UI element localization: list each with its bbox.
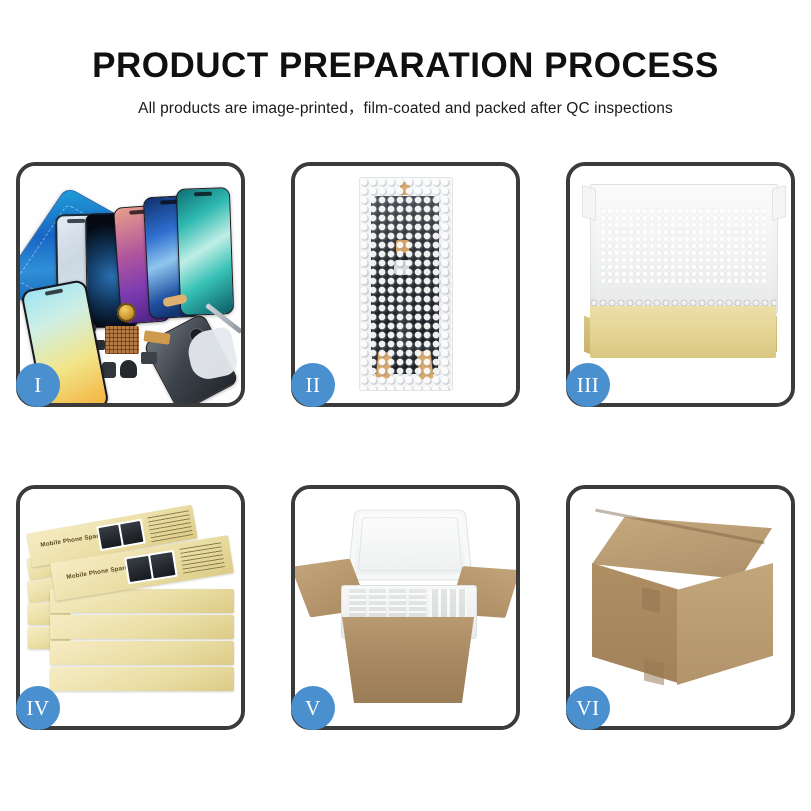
process-step-grid: I II xyxy=(16,162,795,730)
step-badge-3: III xyxy=(566,363,610,407)
tape-strip xyxy=(416,350,433,379)
page-title: PRODUCT PREPARATION PROCESS xyxy=(0,0,811,85)
bubble-wrap-package xyxy=(359,177,453,391)
gold-box-tray xyxy=(590,306,776,358)
tape-strip xyxy=(375,351,392,378)
stacked-box-slab xyxy=(50,641,234,665)
step-badge-5: V xyxy=(291,686,335,730)
step-badge-6: VI xyxy=(566,686,610,730)
step-3-image xyxy=(570,166,791,403)
step-4-image: Mobile Phone Spare Parts Mobile Phone Sp… xyxy=(20,489,241,726)
carton-left-face xyxy=(592,563,678,683)
step-5-image xyxy=(295,489,516,726)
step-1-image xyxy=(20,166,241,403)
header: PRODUCT PREPARATION PROCESS All products… xyxy=(0,0,811,118)
foam-lid xyxy=(347,510,472,581)
tape-strip xyxy=(400,182,410,195)
small-part-e xyxy=(102,362,116,378)
step-badge-1: I xyxy=(16,363,60,407)
copper-coil-part xyxy=(117,303,136,322)
step-badge-2: II xyxy=(291,363,335,407)
carton-tape-upper xyxy=(642,587,660,613)
page-subtitle: All products are image-printed，film-coat… xyxy=(0,85,811,118)
process-step-5: V xyxy=(291,485,520,730)
process-step-3: III xyxy=(566,162,795,407)
step-2-image xyxy=(295,166,516,403)
stacked-box-slab xyxy=(50,667,234,691)
product-preparation-infographic: PRODUCT PREPARATION PROCESS All products… xyxy=(0,0,811,811)
step-badge-4: IV xyxy=(16,686,60,730)
process-step-4: Mobile Phone Spare Parts Mobile Phone Sp… xyxy=(16,485,245,730)
carton-body xyxy=(333,617,483,703)
carton-tape-lower xyxy=(644,659,664,686)
chip-grid-part xyxy=(105,326,139,354)
tape-strip xyxy=(396,240,409,253)
small-part-g xyxy=(141,352,157,364)
speaker-part xyxy=(120,360,137,378)
flex-cable xyxy=(396,248,408,346)
process-step-2: II xyxy=(291,162,520,407)
gold-box-stack: Mobile Phone Spare Parts Mobile Phone Sp… xyxy=(26,503,236,713)
carton-right-face xyxy=(677,563,773,685)
notch-icon xyxy=(45,288,63,295)
step-6-image xyxy=(570,489,791,726)
stacked-box-slab xyxy=(50,615,234,639)
box-lid-foam xyxy=(600,208,766,284)
notch-icon xyxy=(67,219,85,223)
notch-icon xyxy=(194,192,212,197)
process-step-1: I xyxy=(16,162,245,407)
foam-lid-inner-rim xyxy=(358,517,463,571)
process-step-6: VI xyxy=(566,485,795,730)
